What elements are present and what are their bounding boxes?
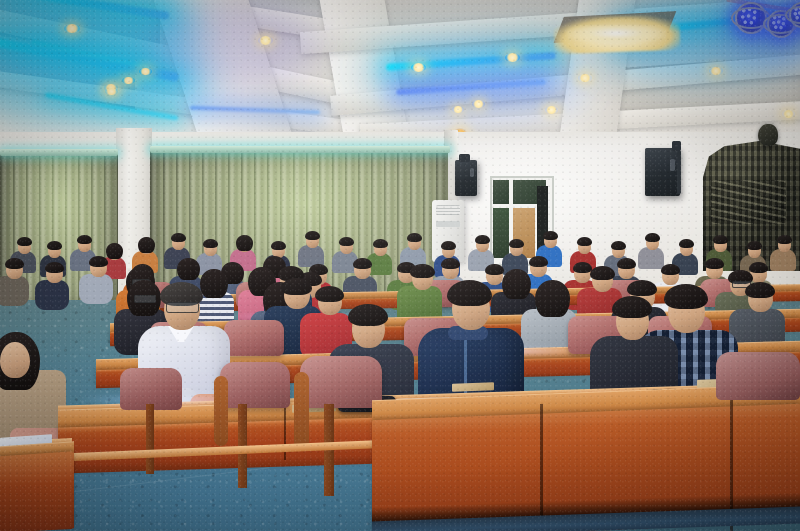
cove-glow-purple	[150, 0, 320, 90]
photograph-conference-hall: Conference hall audience seated in tiere…	[0, 0, 800, 531]
downlight-13	[782, 110, 795, 118]
downlight-7	[411, 63, 426, 72]
door-glass-upper-left	[493, 180, 509, 204]
chair-aisle-3-leg	[146, 404, 154, 474]
chair-r3-2[interactable]	[224, 320, 284, 356]
downlight-12	[545, 106, 558, 114]
downlight-6	[105, 88, 118, 95]
downlight-11	[472, 100, 485, 108]
desk-front-left-panel	[0, 451, 74, 531]
curtain-rail-left	[0, 149, 118, 156]
downlight-9	[578, 74, 592, 82]
ac-grill	[436, 205, 460, 215]
speaker-bracket-right	[677, 150, 681, 194]
downlight-14	[452, 106, 464, 113]
chair-aisle-2-arm	[294, 372, 309, 450]
wall-speaker-right	[645, 148, 680, 196]
notebook-mid-left[interactable]	[452, 382, 494, 391]
downlight-1	[64, 24, 80, 33]
chair-aisle-1-arm	[214, 376, 228, 446]
downlight-8	[505, 53, 520, 62]
curtain-rail-right	[150, 146, 450, 153]
downlight-5	[139, 68, 152, 75]
wall-speaker-left	[455, 160, 477, 196]
speaker-mount-left	[459, 154, 470, 162]
downlight-2	[258, 36, 273, 45]
downlight-10	[709, 67, 723, 75]
mural-head-figure	[758, 124, 778, 146]
chair-front-right-1[interactable]	[716, 352, 800, 400]
chair-aisle-1[interactable]	[220, 362, 290, 408]
ceiling-fixture-bulbs	[566, 26, 666, 44]
downlight-4	[122, 77, 135, 84]
